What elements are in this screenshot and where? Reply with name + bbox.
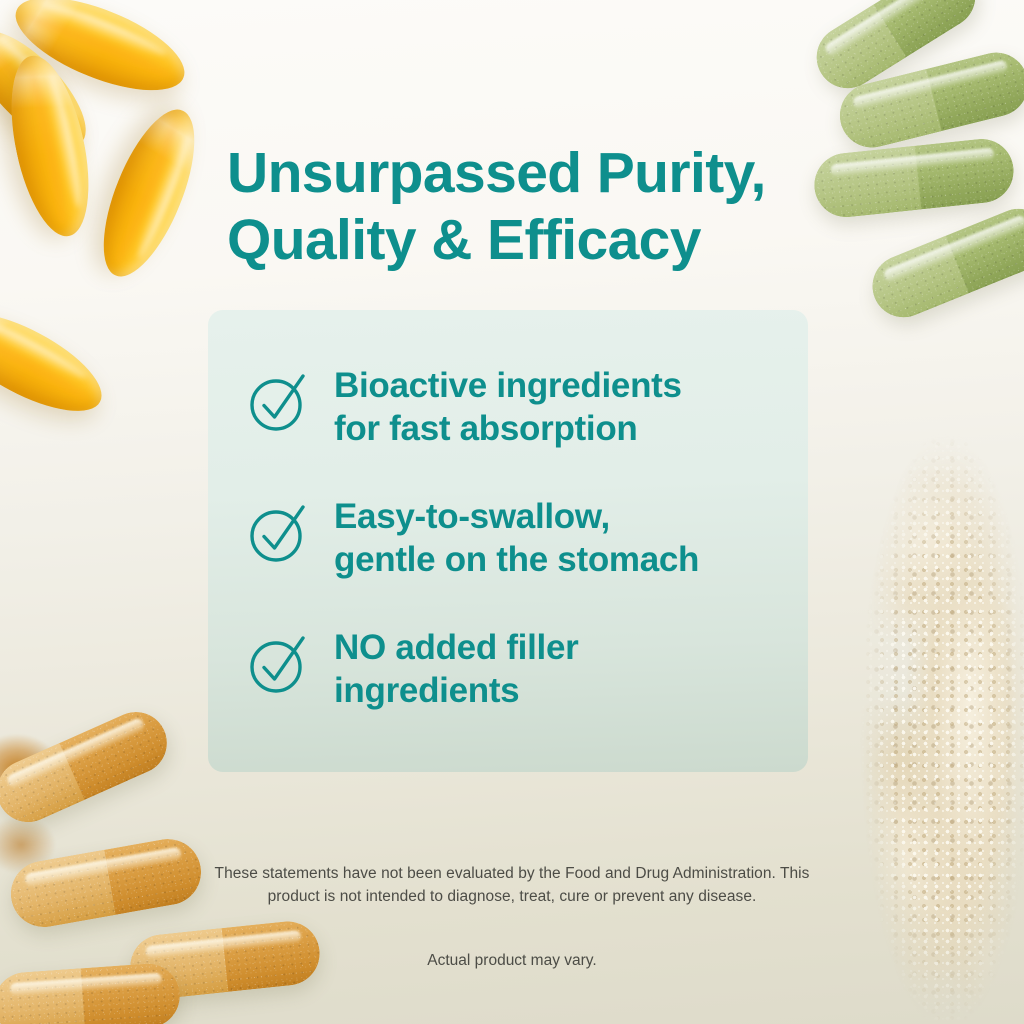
turmeric-capsule <box>0 962 182 1024</box>
herbal-capsule <box>811 136 1017 221</box>
turmeric-capsule <box>0 702 177 832</box>
turmeric-capsule <box>6 834 207 932</box>
softgel-capsule <box>85 98 213 288</box>
benefit-label: NO added filler ingredients <box>334 627 578 712</box>
fda-disclaimer: These statements have not been evaluated… <box>212 862 812 909</box>
benefits-card: Bioactive ingredients for fast absorptio… <box>208 310 808 772</box>
page-title: Unsurpassed Purity, Quality & Efficacy <box>227 140 807 273</box>
spilled-powder <box>0 734 60 804</box>
herbal-capsule <box>805 0 987 100</box>
product-benefits-graphic: Unsurpassed Purity, Quality & Efficacy B… <box>0 0 1024 1024</box>
green-herbal-capsules <box>794 0 1024 320</box>
herbal-capsule <box>863 199 1024 326</box>
softgel-capsule <box>0 14 103 165</box>
product-variation-note: Actual product may vary. <box>212 949 812 972</box>
benefit-label: Bioactive ingredients for fast absorptio… <box>334 365 682 450</box>
softgel-capsule <box>0 294 115 430</box>
softgel-capsule <box>4 0 196 109</box>
benefit-item: Bioactive ingredients for fast absorptio… <box>248 365 682 450</box>
spilled-powder <box>0 816 56 874</box>
circle-check-icon <box>248 633 310 695</box>
benefit-item: NO added filler ingredients <box>248 627 578 712</box>
headline-line-2: Quality & Efficacy <box>227 207 807 274</box>
headline-line-1: Unsurpassed Purity, <box>227 141 766 205</box>
circle-check-icon <box>248 371 310 433</box>
circle-check-icon <box>248 502 310 564</box>
yellow-softgel-capsules <box>0 0 230 430</box>
herbal-capsule <box>833 46 1024 155</box>
benefit-label: Easy-to-swallow, gentle on the stomach <box>334 496 699 581</box>
softgel-capsule <box>0 49 102 243</box>
benefit-item: Easy-to-swallow, gentle on the stomach <box>248 496 699 581</box>
